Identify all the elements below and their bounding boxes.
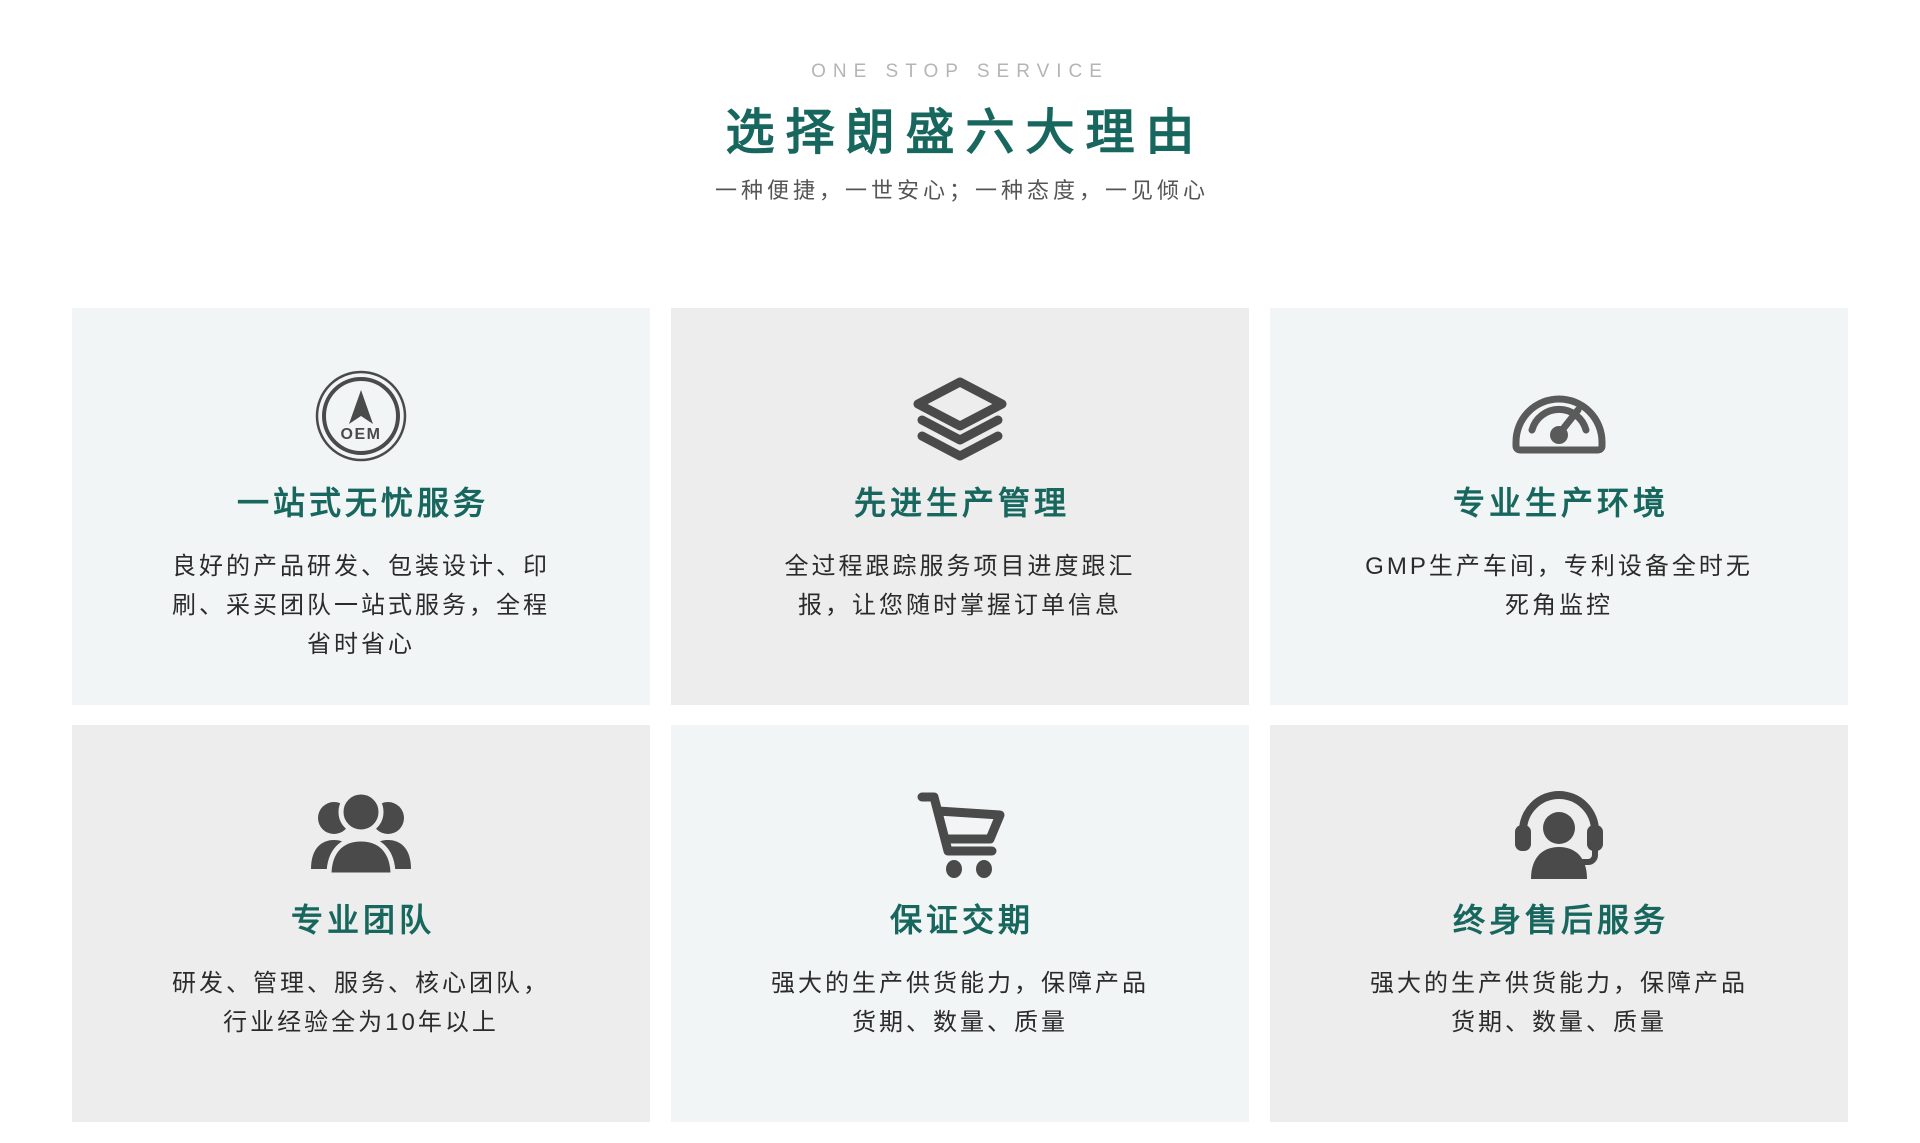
feature-card-professional-team[interactable]: 专业团队 研发、管理、服务、核心团队，行业经验全为10年以上	[72, 725, 650, 1122]
people-group-icon	[309, 779, 413, 887]
card-title: 一站式无忧服务	[233, 484, 489, 522]
shopping-cart-icon	[912, 779, 1008, 887]
card-description: 强大的生产供货能力，保障产品货期、数量、质量	[1359, 965, 1759, 1043]
layers-icon	[912, 362, 1008, 470]
gauge-icon	[1508, 362, 1610, 470]
card-title: 先进生产管理	[850, 484, 1070, 522]
oem-badge-icon: OEM	[313, 362, 409, 470]
card-title: 保证交期	[886, 901, 1034, 939]
page-header: ONE STOP SERVICE 选择朗盛六大理由 一种便捷，一世安心；一种态度…	[0, 0, 1920, 205]
card-description: GMP生产车间，专利设备全时无死角监控	[1359, 548, 1759, 626]
page-title: 选择朗盛六大理由	[0, 105, 1920, 163]
feature-card-professional-production-environment[interactable]: 专业生产环境 GMP生产车间，专利设备全时无死角监控	[1270, 308, 1848, 705]
card-description: 良好的产品研发、包装设计、印刷、采买团队一站式服务，全程省时省心	[165, 548, 557, 665]
promo-page: ONE STOP SERVICE 选择朗盛六大理由 一种便捷，一世安心；一种态度…	[0, 0, 1920, 1143]
feature-card-guaranteed-delivery[interactable]: 保证交期 强大的生产供货能力，保障产品货期、数量、质量	[671, 725, 1249, 1122]
feature-card-lifetime-after-sales-service[interactable]: 终身售后服务 强大的生产供货能力，保障产品货期、数量、质量	[1270, 725, 1848, 1122]
feature-grid: OEM 一站式无忧服务 良好的产品研发、包装设计、印刷、采买团队一站式服务，全程…	[72, 308, 1848, 1122]
eyebrow-text: ONE STOP SERVICE	[0, 62, 1920, 81]
page-subtitle: 一种便捷，一世安心；一种态度，一见倾心	[0, 177, 1920, 206]
card-title: 专业团队	[287, 901, 435, 939]
headset-support-icon	[1509, 779, 1609, 887]
card-title: 终身售后服务	[1449, 901, 1669, 939]
card-description: 研发、管理、服务、核心团队，行业经验全为10年以上	[161, 965, 561, 1043]
feature-card-advanced-production-management[interactable]: 先进生产管理 全过程跟踪服务项目进度跟汇报，让您随时掌握订单信息	[671, 308, 1249, 705]
card-description: 强大的生产供货能力，保障产品货期、数量、质量	[760, 965, 1160, 1043]
feature-card-one-stop-service[interactable]: OEM 一站式无忧服务 良好的产品研发、包装设计、印刷、采买团队一站式服务，全程…	[72, 308, 650, 705]
oem-icon-label: OEM	[341, 426, 382, 443]
card-description: 全过程跟踪服务项目进度跟汇报，让您随时掌握订单信息	[760, 548, 1160, 626]
card-title: 专业生产环境	[1449, 484, 1669, 522]
